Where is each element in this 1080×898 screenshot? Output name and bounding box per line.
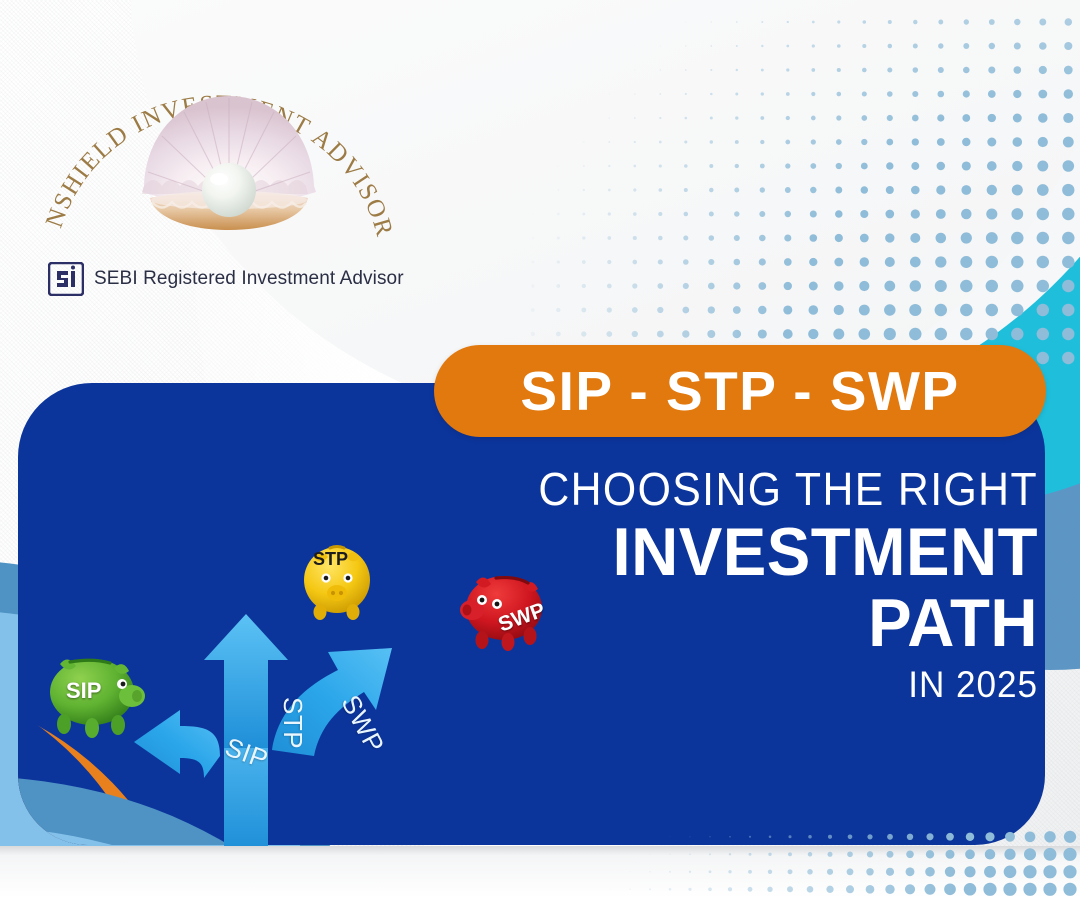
brand-logo: FINSHIELD INVESTMENT ADVISORS (38, 36, 398, 296)
sebi-label: SEBI Registered Investment Advisor (94, 268, 404, 290)
halftone-dots-top-right (520, 10, 1080, 370)
piggy-bank-sip (40, 648, 155, 740)
sebi-logo-icon (48, 262, 84, 296)
halftone-dots-bottom-right (600, 828, 1080, 898)
piggy-bank-stp (296, 540, 378, 622)
sebi-registration: SEBI Registered Investment Advisor (48, 262, 404, 296)
headline-line-1: CHOOSING THE RIGHT (461, 466, 1038, 513)
banner-label: SIP - STP - SWP (520, 359, 959, 423)
poster-canvas: FINSHIELD INVESTMENT ADVISORS (0, 0, 1080, 898)
pearl-shell-icon (134, 80, 324, 240)
sip-stp-swp-banner: SIP - STP - SWP (434, 345, 1046, 437)
piggy-bank-swp (452, 566, 552, 652)
